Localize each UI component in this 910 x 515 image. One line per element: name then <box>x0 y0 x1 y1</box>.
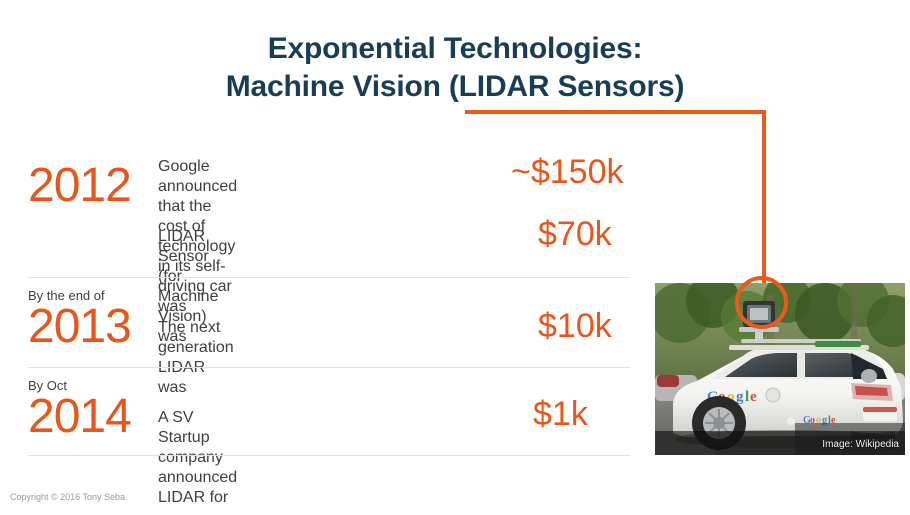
page-title: Exponential Technologies: Machine Vision… <box>0 30 910 106</box>
connector-vertical-line <box>762 110 766 286</box>
lidar-sensor-circle-highlight <box>735 276 788 329</box>
photo-caption: Image: Wikipedia <box>822 439 899 451</box>
title-line-2: Machine Vision (LIDAR Sensors) <box>0 68 910 106</box>
row-year-2012: 2012 <box>28 162 131 210</box>
row-year-2014: 2014 <box>28 393 131 441</box>
connector-horizontal-line <box>465 110 766 114</box>
row-price-4: $1k <box>533 396 588 432</box>
title-line-1: Exponential Technologies: <box>0 30 910 68</box>
copyright-notice: Copyright © 2016 Tony Seba <box>10 491 125 503</box>
svg-text:e: e <box>750 389 757 405</box>
row-description-3: The next generation LIDAR was <box>158 318 234 398</box>
row-divider <box>28 367 630 368</box>
svg-text:g: g <box>736 389 744 405</box>
row-price-3: $10k <box>538 308 612 344</box>
row-price-2: $70k <box>538 216 612 252</box>
row-description-4: A SV Startup company announced LIDAR for <box>158 408 237 508</box>
svg-text:l: l <box>745 389 749 405</box>
row-year-2013: 2013 <box>28 303 131 351</box>
row-price-1: ~$150k <box>511 154 624 190</box>
slide-canvas: Exponential Technologies: Machine Vision… <box>0 0 910 515</box>
row-divider <box>28 277 630 278</box>
row-divider <box>28 455 630 456</box>
